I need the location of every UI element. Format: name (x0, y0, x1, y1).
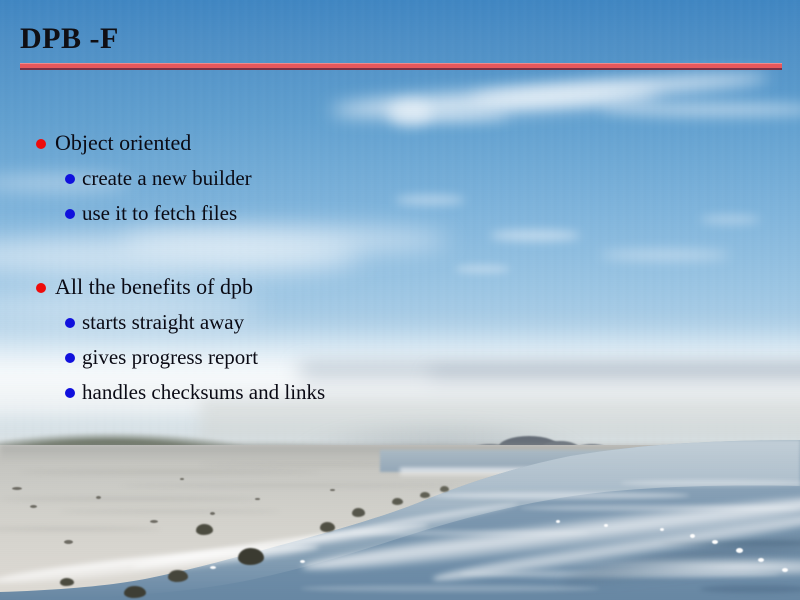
seaweed-clump (320, 522, 335, 532)
pebble (210, 512, 215, 515)
foam-sparkle (660, 528, 664, 531)
pebble (180, 478, 184, 480)
seaweed-clump (124, 586, 146, 598)
bullet-marker-blue-icon (65, 318, 75, 328)
bullet-level2: starts straight away (0, 307, 800, 342)
presentation-slide: DPB -F Object oriented create a new buil… (0, 0, 800, 600)
seaweed-clump (352, 508, 365, 517)
water-ripple (430, 492, 690, 499)
bullet-level1: Object oriented (0, 128, 800, 163)
seaweed-clump (440, 486, 449, 492)
bullet-text: All the benefits of dpb (55, 274, 253, 299)
title-divider-rule (20, 63, 782, 70)
foam-sparkle (782, 568, 788, 572)
seaweed-clump (168, 570, 188, 582)
foam-sparkle (690, 534, 695, 538)
pebble (150, 520, 158, 523)
foam-sparkle (736, 548, 743, 553)
foam-sparkle (300, 560, 305, 563)
foam-sparkle (712, 540, 718, 544)
seaweed-clump (420, 492, 430, 498)
water-ripple (620, 480, 800, 486)
sand-streak (0, 497, 260, 501)
bullet-marker-red-icon (36, 283, 46, 293)
seaweed-clump (238, 548, 264, 565)
pebble (30, 505, 37, 508)
pebble (96, 496, 101, 499)
bullet-text: use it to fetch files (82, 201, 237, 225)
foam-sparkle (758, 558, 764, 562)
foam-sparkle (556, 520, 560, 523)
seaweed-clump (196, 524, 213, 535)
sand-streak (60, 510, 280, 513)
bullet-marker-blue-icon (65, 353, 75, 363)
pebble (12, 487, 22, 490)
seaweed-clump (392, 498, 403, 505)
bullet-text: gives progress report (82, 345, 258, 369)
bullet-marker-blue-icon (65, 209, 75, 219)
foam-sparkle (210, 566, 216, 569)
pebble (64, 540, 73, 544)
water-ripple (300, 585, 600, 592)
cloud (388, 100, 432, 126)
bullet-level1: All the benefits of dpb (0, 272, 800, 307)
sand-streak (120, 484, 460, 487)
bullet-marker-blue-icon (65, 174, 75, 184)
bullet-text: starts straight away (82, 310, 244, 334)
bullet-group-spacer (0, 233, 800, 272)
foam-sparkle (604, 524, 608, 527)
slide-title: DPB -F (20, 22, 119, 56)
water-ripple (700, 585, 800, 593)
bullet-level2: gives progress report (0, 342, 800, 377)
bullet-text: Object oriented (55, 130, 191, 155)
bullet-text: handles checksums and links (82, 380, 325, 404)
seaweed-clump (60, 578, 74, 586)
slide-body-content: Object oriented create a new builder use… (0, 128, 800, 412)
sand-streak (20, 470, 320, 474)
pebble (330, 489, 335, 491)
bullet-marker-blue-icon (65, 388, 75, 398)
bullet-level2: handles checksums and links (0, 377, 800, 412)
pebble (255, 498, 260, 500)
bullet-level2: create a new builder (0, 163, 800, 198)
bullet-marker-red-icon (36, 139, 46, 149)
bullet-text: create a new builder (82, 166, 252, 190)
wave-crest (560, 556, 800, 578)
bullet-level2: use it to fetch files (0, 198, 800, 233)
